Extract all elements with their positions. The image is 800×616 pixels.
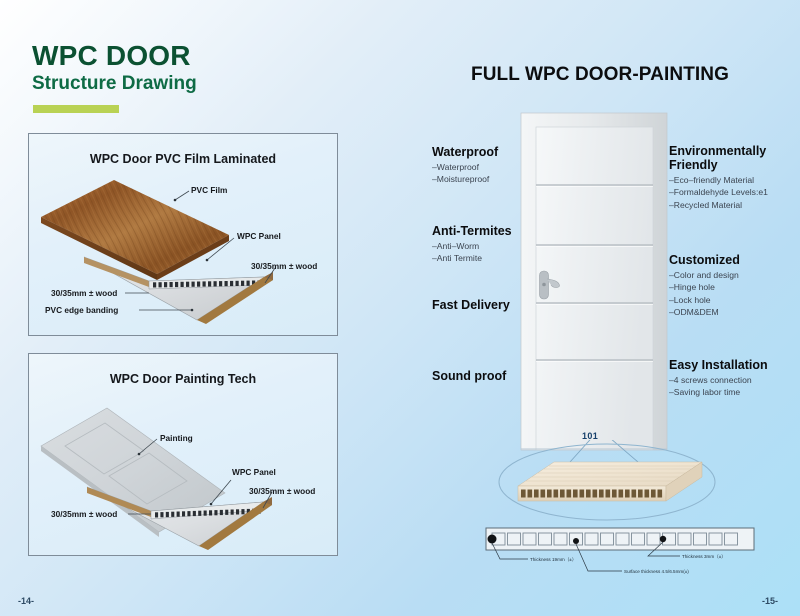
- feature-waterproof-items: –Waterproof –Moistureproof: [432, 162, 498, 186]
- feature-anti-termites-items: –Anti–Worm –Anti Termite: [432, 241, 512, 265]
- right-column: FULL WPC DOOR-PAINTING Waterproof –Water…: [400, 0, 800, 616]
- label-thickness-wood-right-2: 30/35mm ± wood: [249, 487, 315, 495]
- title-accent-rule: [33, 105, 119, 113]
- feature-fast-delivery-heading: Fast Delivery: [432, 298, 510, 312]
- feature-item: –Waterproof: [432, 162, 498, 173]
- feature-waterproof-heading: Waterproof: [432, 145, 498, 159]
- panel-pvc-film-laminated: WPC Door PVC Film Laminated: [28, 133, 338, 336]
- label-pvc-edge-banding: PVC edge banding: [45, 306, 118, 314]
- feature-fast-delivery: Fast Delivery: [432, 298, 510, 312]
- label-wpc-panel-2: WPC Panel: [232, 468, 276, 476]
- page-number-left: -14-: [18, 596, 34, 606]
- callout-surface-thickness: Surface thickness 4.5/6.5mm(±): [624, 569, 689, 574]
- panel-painting-tech: WPC Door Painting Tech: [28, 353, 338, 556]
- feature-anti-termites-heading: Anti-Termites: [432, 224, 512, 238]
- label-thickness-wood-right: 30/35mm ± wood: [251, 262, 317, 270]
- feature-item: –Anti Termite: [432, 253, 512, 264]
- label-thickness-wood-left: 30/35mm ± wood: [51, 289, 117, 297]
- label-thickness-wood-left-2: 30/35mm ± wood: [51, 510, 117, 518]
- feature-sound-proof-heading: Sound proof: [432, 369, 506, 383]
- feature-item: –Moistureproof: [432, 174, 498, 185]
- feature-anti-termites: Anti-Termites –Anti–Worm –Anti Termite: [432, 224, 512, 265]
- feature-waterproof: Waterproof –Waterproof –Moistureproof: [432, 145, 498, 186]
- panel-cross-section-diagram: [470, 440, 800, 605]
- label-pvc-film: PVC Film: [191, 186, 227, 194]
- callout-thickness-19mm: Thickness 19mm（±）: [530, 557, 576, 563]
- slide-page: WPC DOOR Structure Drawing WPC Door PVC …: [0, 0, 800, 616]
- left-column: WPC DOOR Structure Drawing WPC Door PVC …: [0, 0, 400, 616]
- callout-thickness-3mm: Thickness 3mm（±）: [682, 554, 726, 560]
- door-illustration: [505, 105, 705, 455]
- label-wpc-panel: WPC Panel: [237, 232, 281, 240]
- feature-item: –Anti–Worm: [432, 241, 512, 252]
- label-painting: Painting: [160, 434, 193, 442]
- section-title: FULL WPC DOOR-PAINTING: [400, 64, 800, 86]
- feature-sound-proof: Sound proof: [432, 369, 506, 383]
- painting-tech-illustration: [29, 354, 339, 557]
- page-title: WPC DOOR: [32, 42, 191, 70]
- page-number-right: -15-: [762, 596, 778, 606]
- page-subtitle: Structure Drawing: [32, 74, 197, 93]
